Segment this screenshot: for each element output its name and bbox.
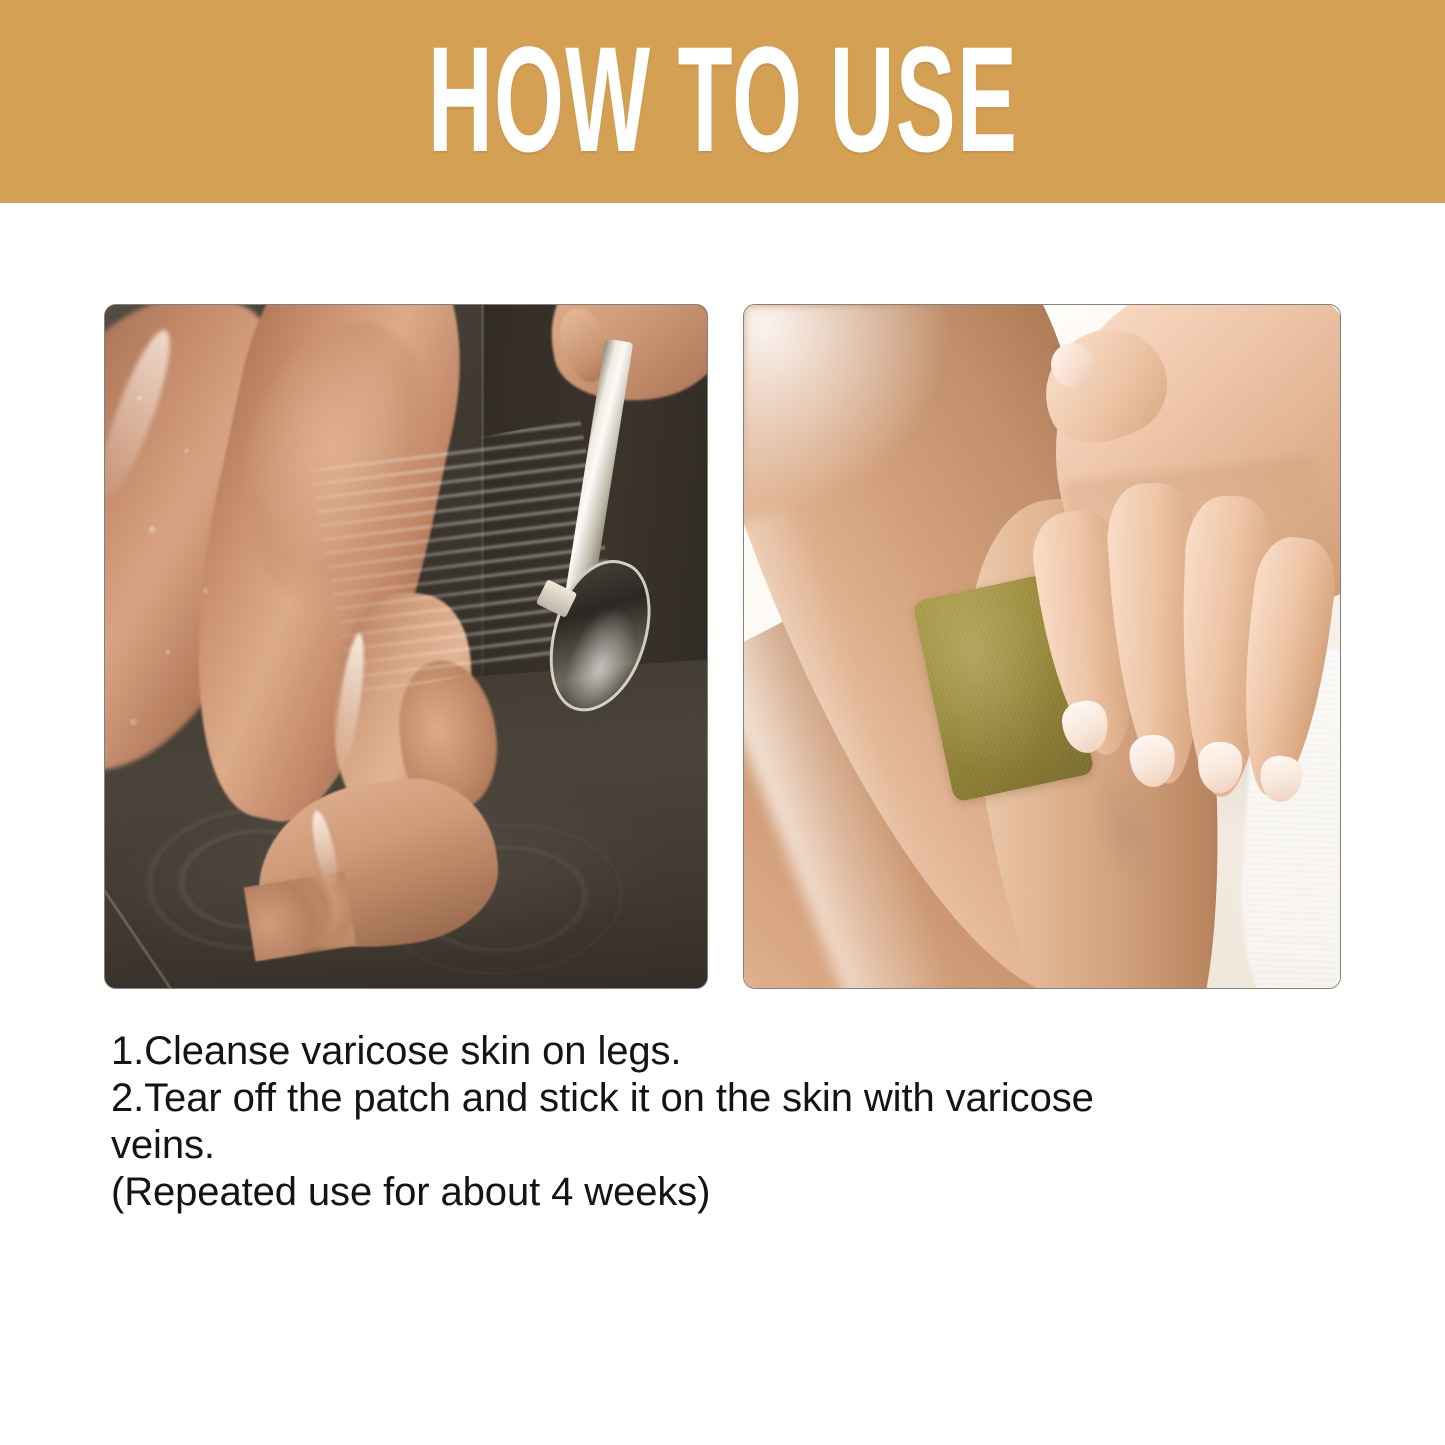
instruction-line-2: 2.Tear off the patch and stick it on the… [111,1075,1341,1122]
water-droplets [105,346,262,783]
page-title: HOW TO USE [427,24,1017,174]
window-glow [744,305,947,510]
toes [244,871,357,961]
instruction-line-3: veins. [111,1122,1341,1169]
how-to-use-infographic: HOW TO USE [0,0,1445,1445]
instruction-line-1: 1.Cleanse varicose skin on legs. [111,1028,1341,1075]
apply-patch-photo [744,305,1340,988]
cleanse-step-photo [105,305,707,988]
instructions-block: 1.Cleanse varicose skin on legs. 2.Tear … [111,1028,1341,1216]
instruction-line-4: (Repeated use for about 4 weeks) [111,1169,1341,1216]
header-banner: HOW TO USE [0,0,1445,203]
